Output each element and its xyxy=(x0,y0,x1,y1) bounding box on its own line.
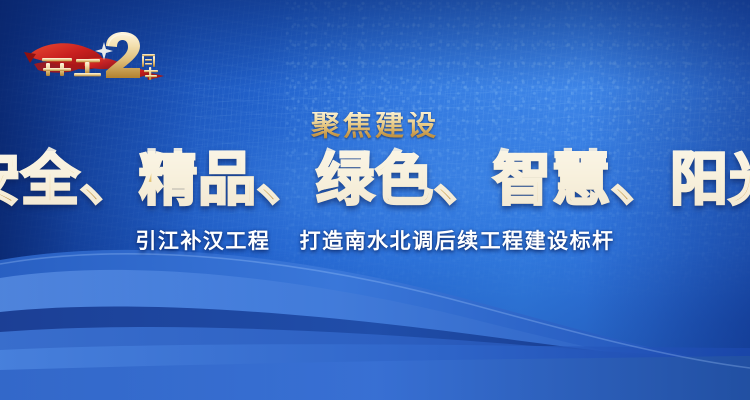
promo-banner: 聚焦建设 “安全、精品、绿色、智慧、阳光” 引江补汉工程 打造南水北调后续工程建… xyxy=(0,0,750,400)
headline-text: “安全、精品、绿色、智慧、阳光” xyxy=(0,151,750,209)
banner-copy: 聚焦建设 “安全、精品、绿色、智慧、阳光” 引江补汉工程 打造南水北调后续工程建… xyxy=(0,0,750,400)
subtitle-text: 引江补汉工程 打造南水北调后续工程建设标杆 xyxy=(135,231,614,252)
eyebrow-text: 聚焦建设 xyxy=(311,112,439,141)
